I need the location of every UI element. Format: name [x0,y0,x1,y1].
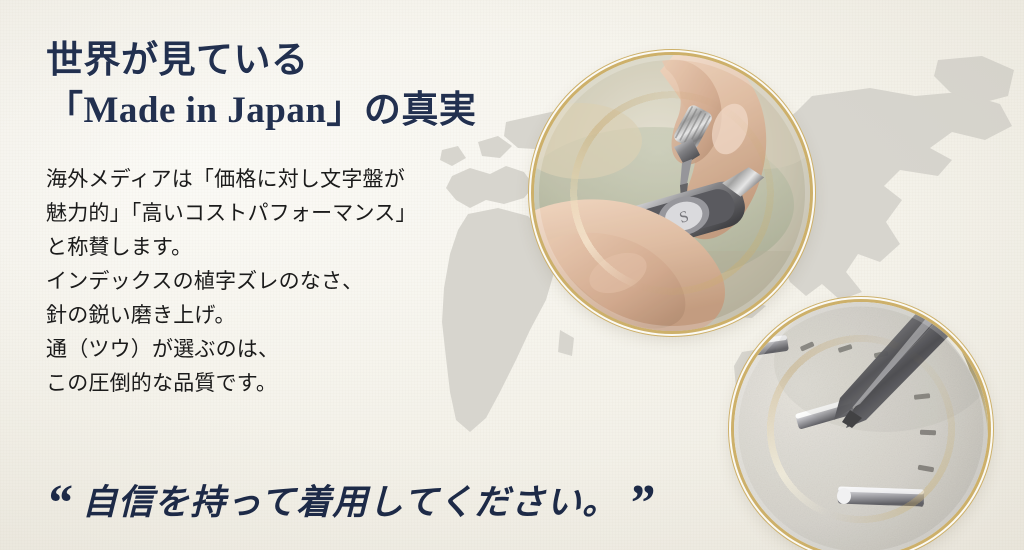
quote-open-icon: “ [46,481,72,528]
quote-close-icon: ” [628,481,654,528]
photo-dial-index [734,302,988,550]
photo-watchmaker: S [534,55,810,331]
promo-banner: 世界が見ている 「Made in Japan」の真実 海外メディアは「価格に対し… [0,0,1024,550]
photo-dial-index-image [734,302,988,550]
pull-quote-text: 自信を持って着用してください。 [82,483,618,523]
body-copy: 海外メディアは「価格に対し文字盤が 魅力的」「高いコストパフォーマンス」 と称賛… [46,137,516,401]
photo-watchmaker-image: S [534,55,810,331]
pull-quote: “ 自信を持って着用してください。 ” [46,477,654,524]
page-title: 世界が見ている 「Made in Japan」の真実 [46,36,516,137]
text-column: 世界が見ている 「Made in Japan」の真実 海外メディアは「価格に対し… [46,36,516,401]
